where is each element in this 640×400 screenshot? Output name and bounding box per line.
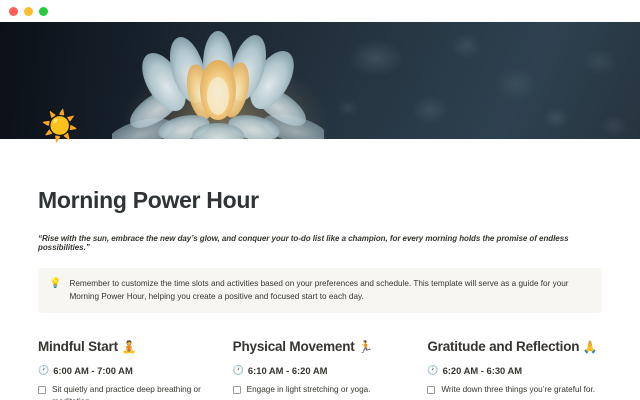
- column-heading-text: Physical Movement: [233, 339, 355, 354]
- person-in-lotus-position-icon: 🧘: [121, 340, 136, 354]
- time-row: 🕐 6:10 AM - 6:20 AM: [233, 365, 408, 376]
- time-label[interactable]: 6:00 AM - 7:00 AM: [53, 365, 133, 376]
- time-row: 🕐 6:00 AM - 7:00 AM: [38, 365, 213, 376]
- sun-emoji[interactable]: ☀️: [41, 111, 78, 143]
- time-row: 🕐 6:20 AM - 6:30 AM: [427, 365, 602, 376]
- clock-icon: 🕐: [233, 365, 244, 376]
- page-quote: “Rise with the sun, embrace the new day’…: [38, 234, 602, 252]
- person-running-icon: 🏃: [358, 340, 373, 354]
- water-lily-illustration: [112, 30, 324, 139]
- column-heading[interactable]: Physical Movement 🏃: [233, 339, 408, 354]
- lightbulb-icon: 💡: [49, 277, 61, 290]
- folded-hands-icon: 🙏: [583, 340, 598, 354]
- cover-vignette: [0, 22, 640, 139]
- window-close-button[interactable]: [9, 7, 18, 16]
- clock-icon: 🕐: [427, 365, 438, 376]
- todo-item[interactable]: Write down three things you’re grateful …: [427, 384, 602, 396]
- column-heading-text: Mindful Start: [38, 339, 118, 354]
- time-label[interactable]: 6:10 AM - 6:20 AM: [248, 365, 328, 376]
- clock-icon: 🕐: [38, 365, 49, 376]
- columns-container: Mindful Start 🧘 🕐 6:00 AM - 7:00 AM Sit …: [38, 339, 602, 400]
- todo-label: Sit quietly and practice deep breathing …: [52, 384, 213, 400]
- column-gratitude-and-reflection: Gratitude and Reflection 🙏 🕐 6:20 AM - 6…: [427, 339, 602, 400]
- todo-item[interactable]: Sit quietly and practice deep breathing …: [38, 384, 213, 400]
- column-heading-text: Gratitude and Reflection: [427, 339, 579, 354]
- callout-text: Remember to customize the time slots and…: [69, 277, 590, 303]
- document-body: Morning Power Hour “Rise with the sun, e…: [0, 187, 640, 400]
- app-window: ☀️ Morning Power Hour “Rise with the sun…: [0, 0, 640, 400]
- cover-glow: [120, 52, 330, 139]
- window-minimize-button[interactable]: [24, 7, 33, 16]
- column-heading[interactable]: Gratitude and Reflection 🙏: [427, 339, 602, 354]
- todo-checkbox[interactable]: [233, 386, 241, 394]
- page-title[interactable]: Morning Power Hour: [38, 187, 602, 214]
- todo-checkbox[interactable]: [38, 386, 46, 394]
- column-mindful-start: Mindful Start 🧘 🕐 6:00 AM - 7:00 AM Sit …: [38, 339, 233, 400]
- column-heading[interactable]: Mindful Start 🧘: [38, 339, 213, 354]
- todo-label: Engage in light stretching or yoga.: [247, 384, 371, 396]
- todo-checkbox[interactable]: [427, 386, 435, 394]
- column-physical-movement: Physical Movement 🏃 🕐 6:10 AM - 6:20 AM …: [233, 339, 428, 400]
- cover-image[interactable]: [0, 22, 640, 139]
- time-label[interactable]: 6:20 AM - 6:30 AM: [443, 365, 523, 376]
- callout-block[interactable]: 💡 Remember to customize the time slots a…: [38, 268, 602, 313]
- window-titlebar: [0, 0, 640, 22]
- todo-item[interactable]: Engage in light stretching or yoga.: [233, 384, 408, 396]
- window-maximize-button[interactable]: [39, 7, 48, 16]
- todo-label: Write down three things you’re grateful …: [441, 384, 595, 396]
